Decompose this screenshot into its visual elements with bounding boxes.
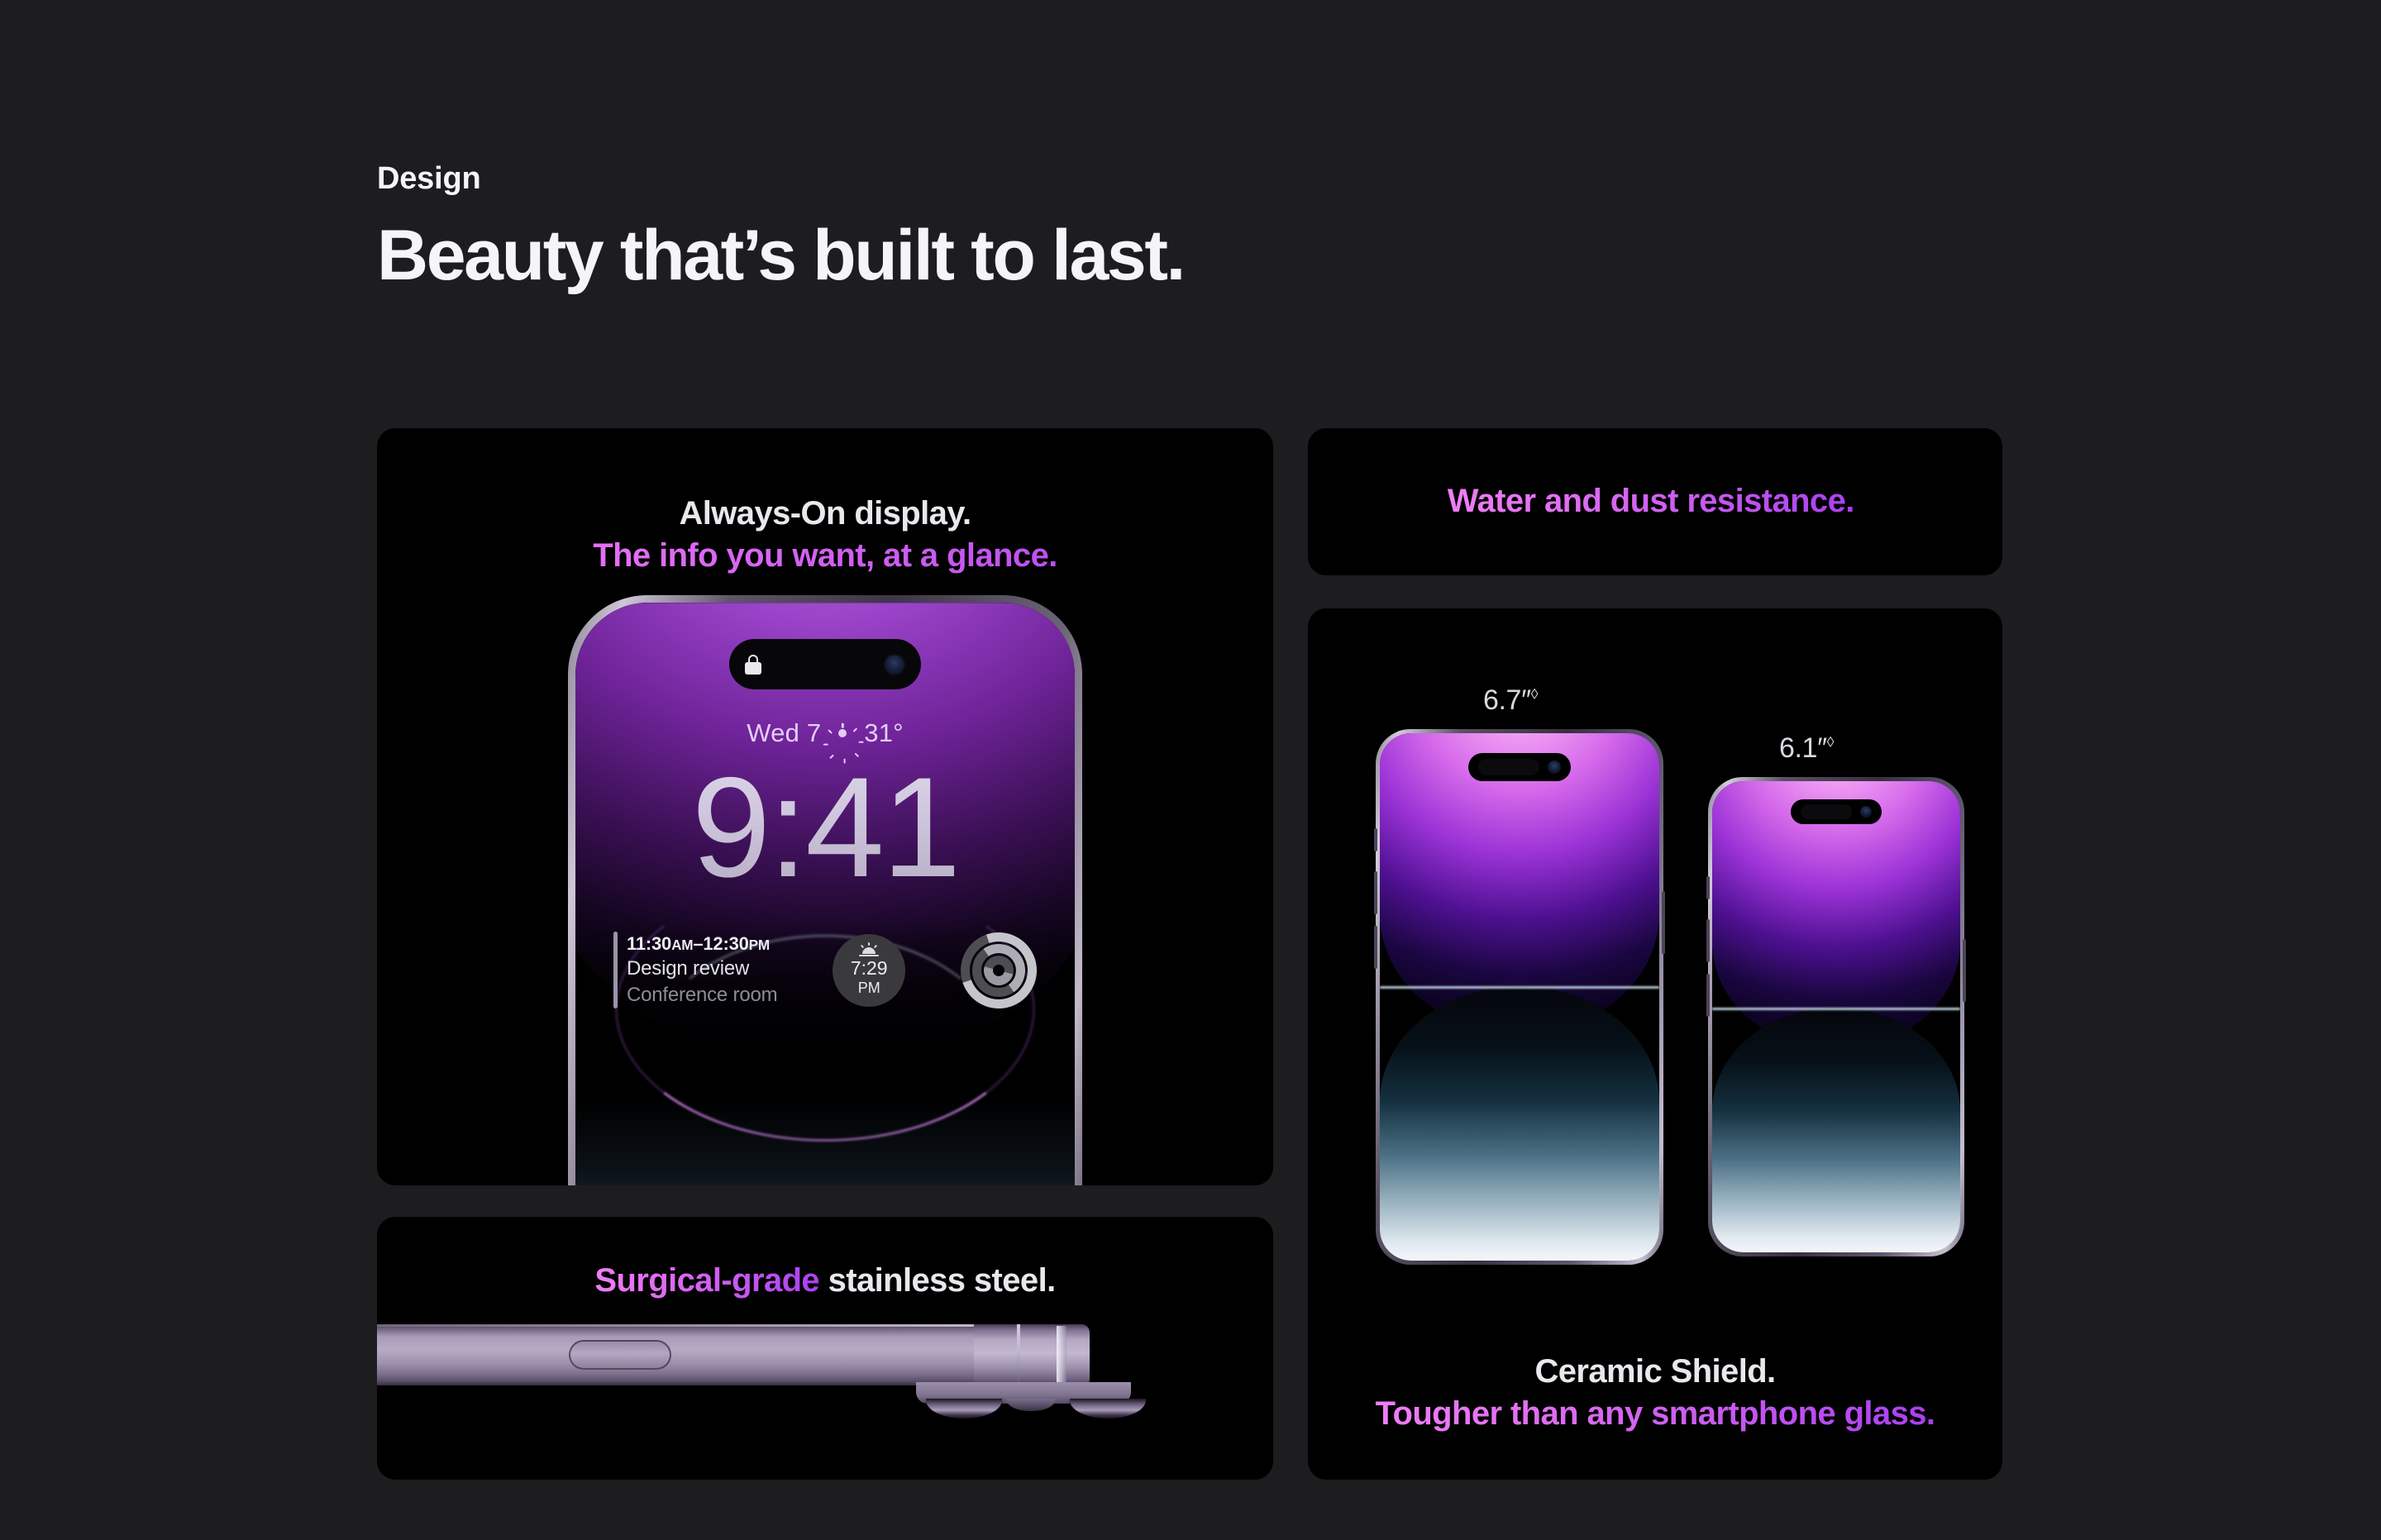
volume-button (569, 1340, 671, 1370)
size-label-small: 6.1″◊ (1779, 732, 1834, 765)
always-on-caption-line2: The info you want, at a glance. (377, 535, 1273, 577)
sunset-widget[interactable]: 7:29 PM (833, 934, 905, 1007)
design-section: Design Beauty that’s built to last. Alwa… (0, 0, 2381, 1540)
card-always-on-display[interactable]: Always-On display. The info you want, at… (377, 428, 1273, 1185)
card-water-dust-resistance[interactable]: Water and dust resistance.◊ (1308, 428, 2002, 575)
stainless-steel-caption-plain: stainless steel. (819, 1262, 1056, 1299)
phone-screen (1712, 781, 1960, 1252)
stainless-steel-caption-accent: Surgical-grade (594, 1262, 819, 1299)
front-camera-icon (1548, 760, 1561, 774)
iphone-67-inch-mockup (1376, 729, 1663, 1265)
calendar-time-range: 11:30AM–12:30PM (627, 932, 777, 956)
sunset-icon (856, 942, 881, 957)
dynamic-island (1468, 753, 1571, 781)
phone-screen: Wed 7 31° 9:41 (575, 603, 1075, 1185)
activity-rings-icon[interactable] (961, 932, 1037, 1008)
steel-corner (974, 1324, 1090, 1387)
water-dust-caption: Water and dust resistance.◊ (1308, 428, 2002, 575)
always-on-caption-line1: Always-On display. (679, 495, 971, 532)
camera-lens (1007, 1399, 1055, 1411)
front-camera-icon (1860, 806, 1872, 818)
iphone-always-on-mockup: Wed 7 31° 9:41 (568, 595, 1082, 1185)
calendar-event-title: Design review (627, 956, 777, 982)
lockscreen-widgets: 11:30AM–12:30PM Design review Conference… (613, 932, 1037, 1008)
water-dust-caption-text: Water and dust resistance. (1448, 480, 1854, 522)
ceramic-shield-caption-line1: Ceramic Shield. (1534, 1353, 1775, 1390)
always-on-caption: Always-On display. The info you want, at… (377, 493, 1273, 577)
phone-screen (1380, 733, 1659, 1261)
camera-lens (926, 1399, 1002, 1418)
wallpaper-bottom-dome (1712, 1008, 1960, 1252)
ceramic-shield-caption-line2: Tougher than any smartphone glass. (1376, 1395, 1935, 1432)
front-camera-icon (884, 654, 905, 675)
sunset-time: 7:29 (851, 959, 888, 978)
lockscreen-temperature: 31° (864, 718, 903, 748)
section-header: Design Beauty that’s built to last. (377, 162, 1184, 293)
camera-lens (1070, 1399, 1146, 1418)
card-ceramic-shield[interactable]: 6.7″◊ 6.1″◊ (1308, 608, 2002, 1480)
iphone-61-inch-mockup (1708, 777, 1964, 1256)
sunset-meridiem: PM (858, 979, 880, 998)
calendar-widget[interactable]: 11:30AM–12:30PM Design review Conference… (613, 932, 777, 1008)
sun-icon (832, 722, 853, 744)
wallpaper-lower-glow (575, 1099, 1075, 1185)
calendar-event-location: Conference room (627, 982, 777, 1008)
dynamic-island (1791, 799, 1882, 824)
lockscreen-date: Wed 7 (747, 718, 821, 748)
iphone-side-profile-image (377, 1324, 1273, 1457)
ceramic-shield-caption: Ceramic Shield. Tougher than any smartph… (1308, 1351, 2002, 1435)
lockscreen-clock: 9:41 (575, 756, 1075, 899)
section-eyebrow: Design (377, 162, 1184, 197)
page-title: Beauty that’s built to last. (377, 218, 1184, 293)
dynamic-island (729, 639, 921, 689)
lockscreen-status: Wed 7 31° (575, 718, 1075, 748)
wallpaper-bottom-dome (1380, 986, 1659, 1261)
lock-icon (745, 655, 761, 675)
stainless-steel-caption: Surgical-grade stainless steel. (377, 1260, 1273, 1302)
size-label-large: 6.7″◊ (1483, 684, 1538, 717)
steel-band (377, 1324, 981, 1385)
calendar-accent-bar (613, 932, 618, 1008)
card-stainless-steel[interactable]: Surgical-grade stainless steel. (377, 1217, 1273, 1480)
